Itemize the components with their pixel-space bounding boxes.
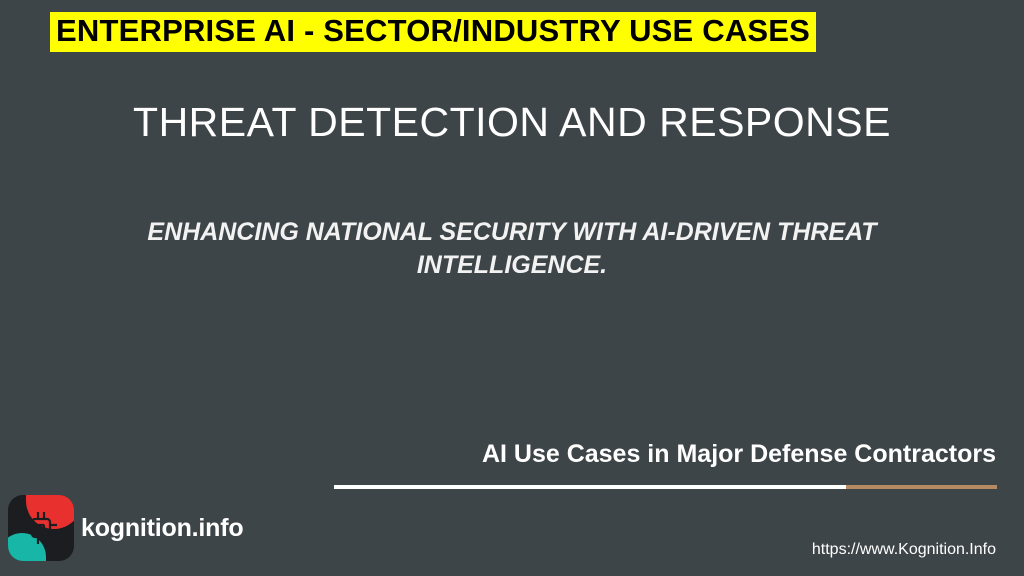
section-label: AI Use Cases in Major Defense Contractor… [482,440,996,469]
eyebrow-banner: ENTERPRISE AI - SECTOR/INDUSTRY USE CASE… [50,12,816,52]
page-title: THREAT DETECTION AND RESPONSE [0,100,1024,145]
subtitle-text: ENHANCING NATIONAL SECURITY WITH AI-DRIV… [80,216,944,282]
brand-name: kognition.info [81,514,243,543]
brand-logo: kognition.info [8,495,243,561]
circuit-lines-icon [17,504,65,552]
slide-root: ENTERPRISE AI - SECTOR/INDUSTRY USE CASE… [0,0,1024,576]
website-url: https://www.Kognition.Info [812,541,996,559]
circuit-chip-icon [8,495,74,561]
divider-rule-left [334,485,846,489]
divider-rule-right [846,485,997,489]
divider-rule [334,485,997,489]
